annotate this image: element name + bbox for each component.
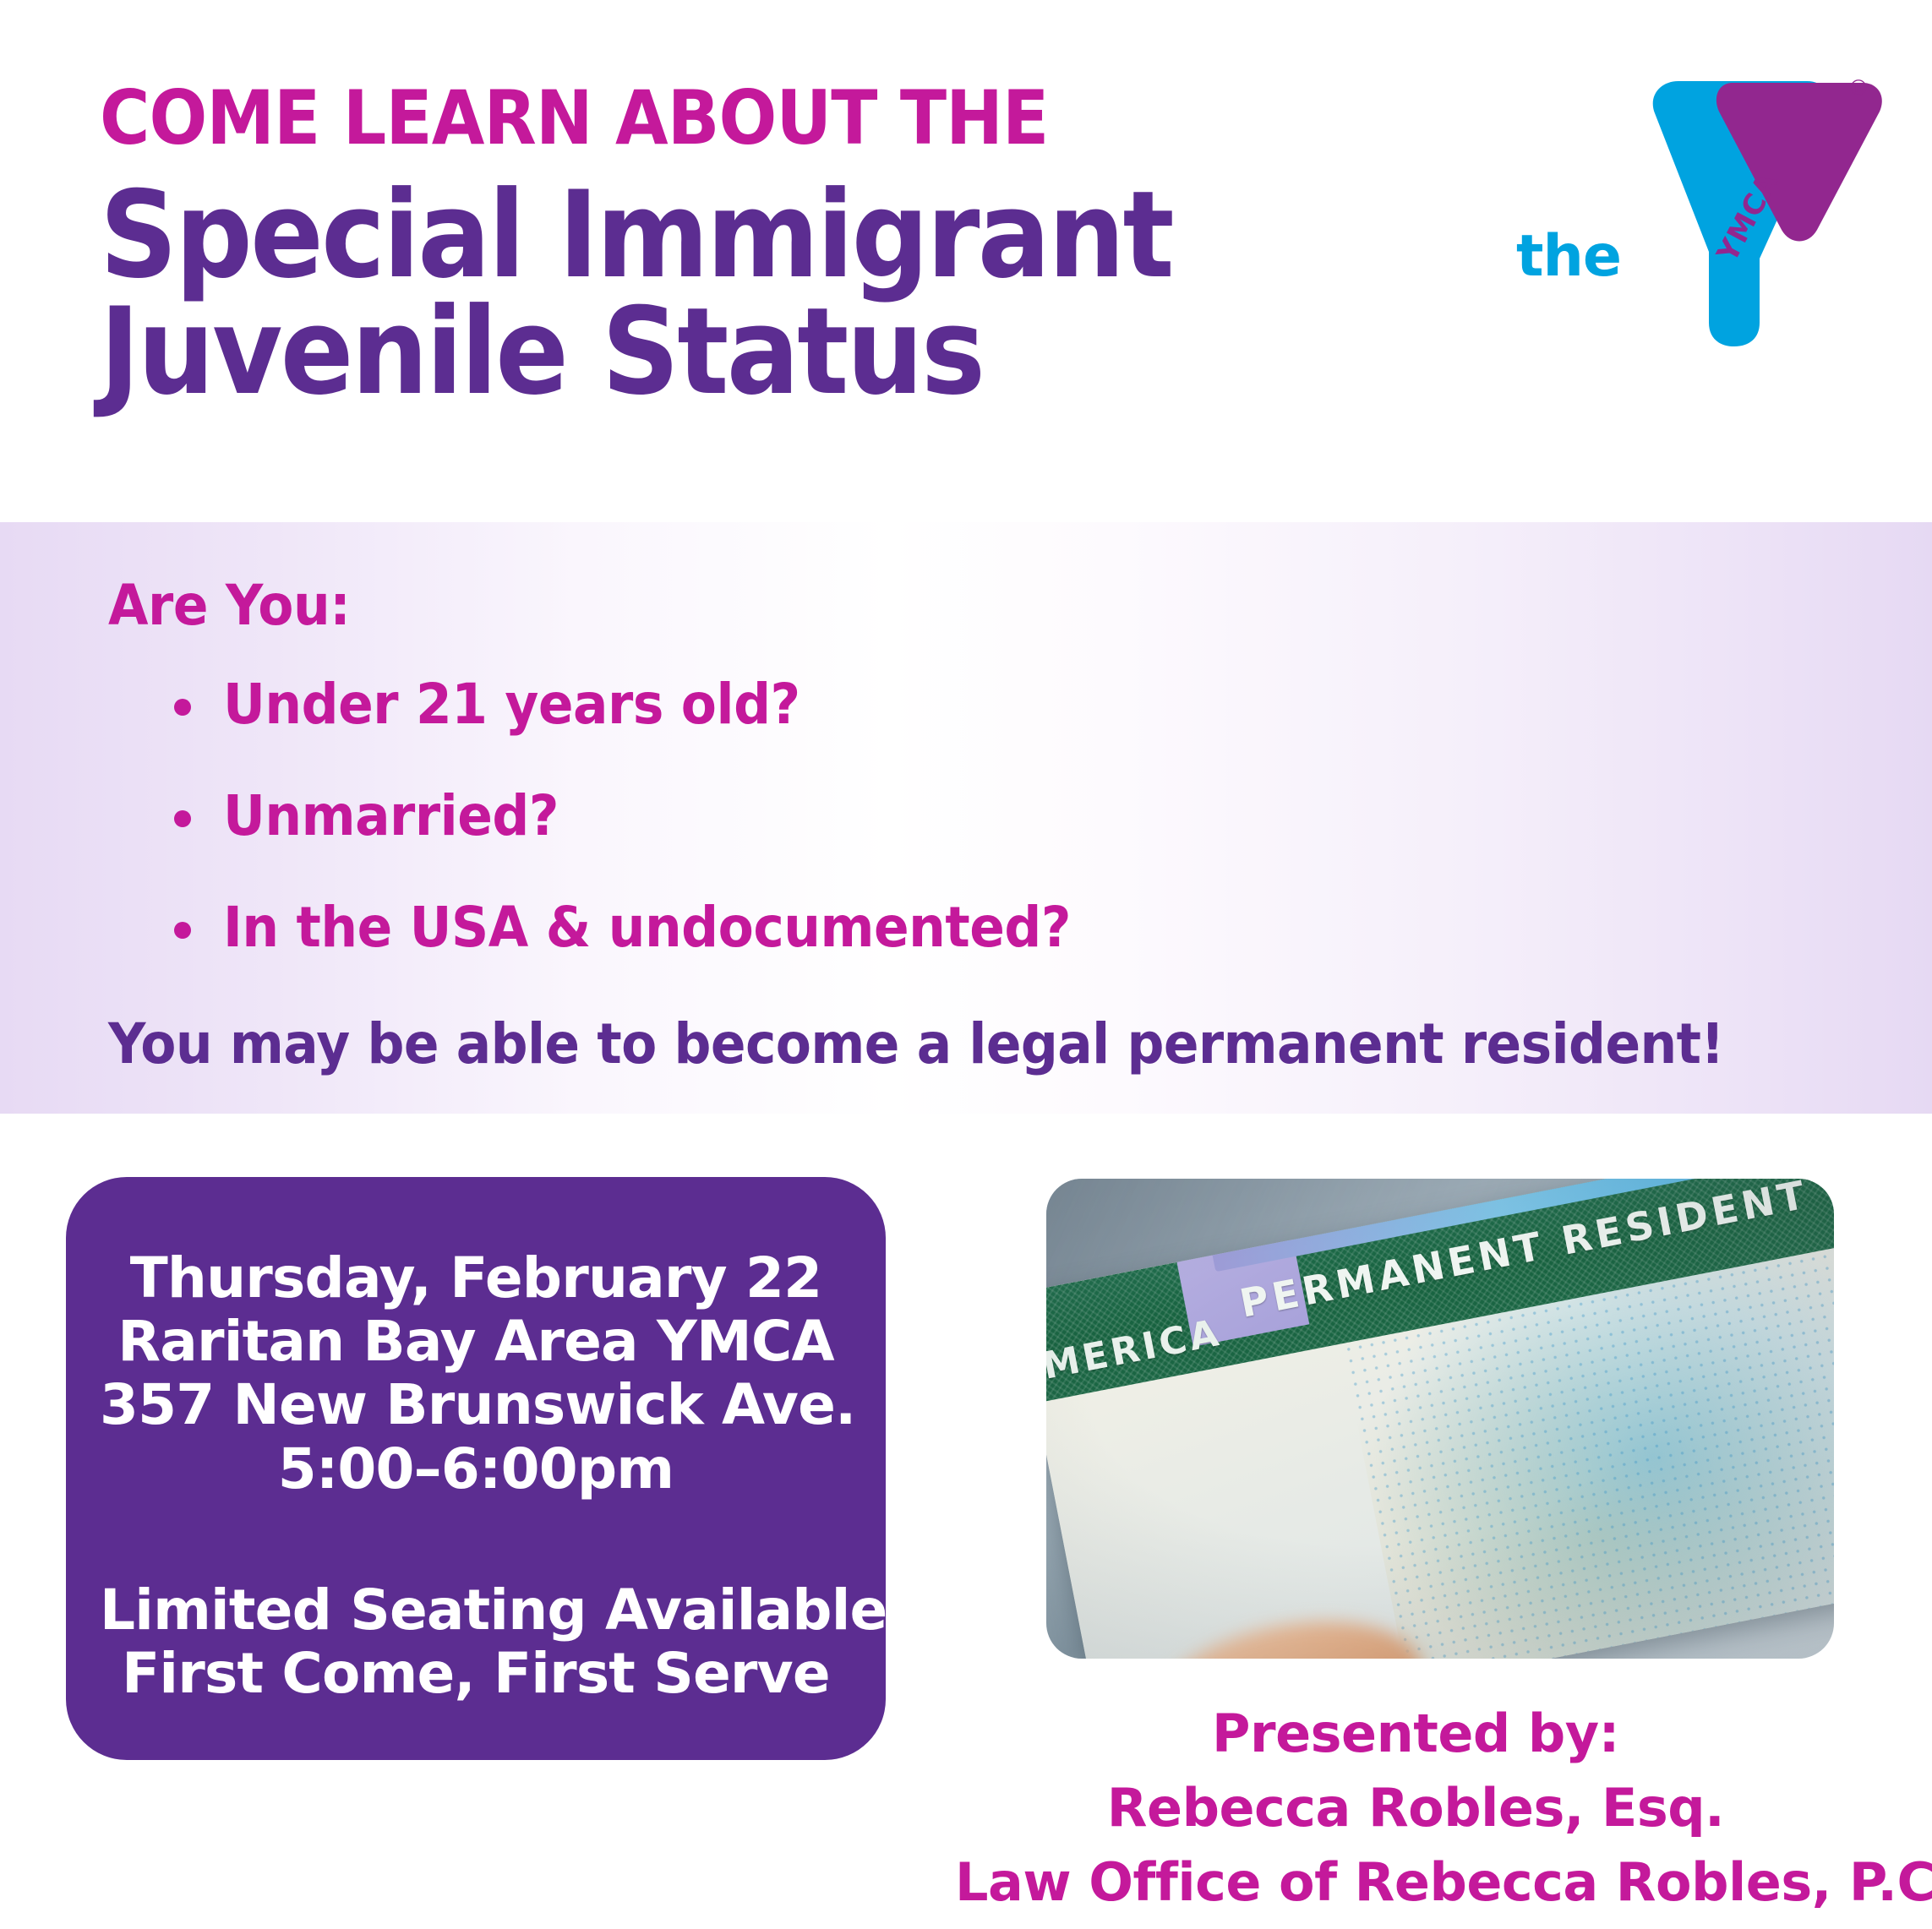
registered-trademark-icon: ® [1847,76,1869,101]
list-item: Unmarried? [174,788,1798,844]
headline-line-2: Juvenile Status [100,294,1286,411]
event-details-box: Thursday, February 22 Raritan Bay Area Y… [66,1177,886,1760]
ymca-the-text: the [1516,223,1621,290]
ymca-y-mark-icon [1511,73,1883,351]
event-spacer [100,1501,852,1578]
qualify-bullet-list: Under 21 years old? Unmarried? In the US… [108,677,1798,956]
headline-line-1: Special Immigrant [100,177,1286,294]
list-item: Under 21 years old? [174,677,1798,733]
presenter-label: Presented by: [955,1697,1876,1771]
presenter-firm: Law Office of Rebecca Robles, P.C. [955,1845,1876,1920]
event-venue: Raritan Bay Area YMCA [100,1310,852,1373]
bullet-text: In the USA & undocumented? [223,900,1071,956]
header-section: COME LEARN ABOUT THE Special Immigrant J… [0,0,1932,522]
flyer-page: COME LEARN ABOUT THE Special Immigrant J… [0,0,1932,1929]
seating-note-line-2: First Come, First Serve [100,1642,852,1705]
list-item: In the USA & undocumented? [174,900,1798,956]
presenter-block: Presented by: Rebecca Robles, Esq. Law O… [955,1697,1876,1920]
event-time: 5:00–6:00pm [100,1437,852,1501]
kicker-text: COME LEARN ABOUT THE [100,81,1313,155]
header-text-block: COME LEARN ABOUT THE Special Immigrant J… [100,81,1418,410]
event-address: 357 New Brunswick Ave. [100,1373,852,1436]
page-title: Special Immigrant Juvenile Status [100,177,1286,410]
qualify-heading: Are You: [108,573,1680,638]
seating-note-line-1: Limited Seating Available [100,1578,852,1642]
thumb-finger [1141,1601,1435,1659]
ymca-logo: the YMCA ® [1511,73,1883,351]
qualify-content: Are You: Under 21 years old? Unmarried? … [108,573,1798,1076]
green-card-photo: MERICA PERMANENT RESIDENT [1046,1179,1834,1659]
qualify-band: Are You: Under 21 years old? Unmarried? … [0,522,1932,1114]
bullet-text: Under 21 years old? [223,677,800,733]
event-date: Thursday, February 22 [100,1246,852,1310]
qualify-lead-in: You may be able to become a legal perman… [108,1011,1680,1076]
bullet-text: Unmarried? [223,788,559,844]
presenter-name: Rebecca Robles, Esq. [955,1771,1876,1845]
